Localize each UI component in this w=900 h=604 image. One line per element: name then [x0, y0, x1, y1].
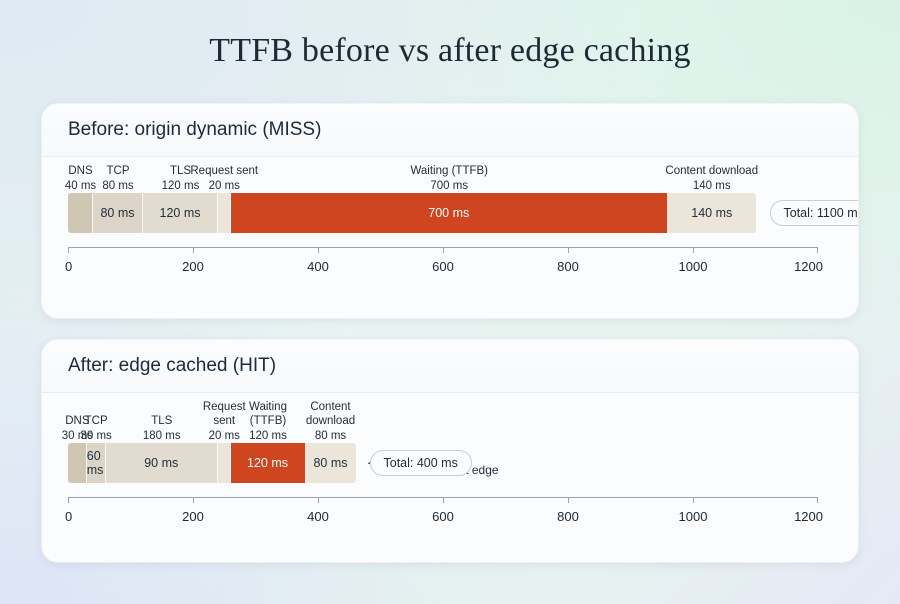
axis-tick [693, 247, 694, 253]
card-after-body: DNS30 msTCP30 msTLS180 msRequestsent20 m… [42, 393, 858, 539]
axis-tick-label: 600 [432, 509, 454, 524]
card-before-header: Before: origin dynamic (MISS) [42, 104, 858, 157]
axis-tick [817, 247, 818, 253]
page-title: TTFB before vs after edge caching [0, 0, 900, 70]
label-name: TCP [102, 164, 133, 179]
label-name: Waiting (TTFB) [410, 164, 488, 179]
axis-tick [693, 497, 694, 503]
axis-tick [568, 247, 569, 253]
chart-before-bar[interactable]: 80 ms120 ms700 ms140 ms [68, 193, 756, 233]
label-content-download: Content download140 ms [665, 164, 758, 193]
bar-segment-request-sent[interactable] [218, 443, 231, 483]
axis-tick-label: 800 [557, 259, 579, 274]
card-after-title: After: edge cached (HIT) [68, 355, 276, 377]
axis-tick [318, 247, 319, 253]
label-value: 120 ms [249, 429, 287, 444]
axis-tick-label: 200 [182, 509, 204, 524]
bar-segment-tcp[interactable]: 60 ms [87, 443, 106, 483]
label-name: TLS [143, 414, 181, 429]
axis-tick [318, 497, 319, 503]
axis-tick-label: 1000 [679, 259, 708, 274]
axis-tick-label: 1200 [794, 259, 823, 274]
chart-before-axis: 020040060080010001200 [68, 247, 818, 289]
label-value: 20 ms [203, 429, 246, 444]
label-content-download: Contentdownload80 ms [306, 400, 355, 444]
label-value: 140 ms [665, 179, 758, 194]
axis-tick-label: 0 [65, 259, 72, 274]
label-name: Request sent [190, 164, 258, 179]
chart-before-segment-labels: DNS40 msTCP80 msTLS120 msRequest sent20 … [68, 157, 818, 193]
chart-after-bar[interactable]: 60 ms90 ms120 ms80 ms [68, 443, 356, 483]
axis-tick-label: 400 [307, 509, 329, 524]
label-tls: TLS180 ms [143, 414, 181, 443]
chart-after-plot: DNS30 msTCP30 msTLS180 msRequestsent20 m… [68, 393, 818, 539]
label-name: Waiting [249, 400, 287, 415]
label-name: Request [203, 400, 246, 415]
label-name: download [306, 414, 355, 429]
axis-tick-label: 0 [65, 509, 72, 524]
label-value: 700 ms [410, 179, 488, 194]
chart-after-segment-labels: DNS30 msTCP30 msTLS180 msRequestsent20 m… [68, 393, 818, 443]
label-waiting-ttfb: Waiting (TTFB)700 ms [410, 164, 488, 193]
bar-segment-tls[interactable]: 90 ms [106, 443, 219, 483]
label-value: 20 ms [190, 179, 258, 194]
axis-tick-label: 400 [307, 259, 329, 274]
chart-before: DNS40 msTCP80 msTLS120 msRequest sent20 … [68, 157, 832, 289]
axis-tick [193, 247, 194, 253]
bar-segment-request-sent[interactable] [218, 193, 231, 233]
axis-tick [193, 497, 194, 503]
chart-before-bar-row: 80 ms120 ms700 ms140 ms Total: 1100 ms [68, 193, 818, 233]
chart-after-bar-row: 60 ms90 ms120 ms80 ms Server work elimin… [68, 443, 818, 483]
label-value: 180 ms [143, 429, 181, 444]
label-value: 30 ms [80, 429, 111, 444]
axis-tick-label: 800 [557, 509, 579, 524]
label-name: Content download [665, 164, 758, 179]
page-root: TTFB before vs after edge caching Before… [0, 0, 900, 604]
axis-tick [443, 247, 444, 253]
axis-tick-label: 1000 [679, 509, 708, 524]
axis-tick-label: 1200 [794, 509, 823, 524]
label-request-sent: Requestsent20 ms [203, 400, 246, 444]
card-after-header: After: edge cached (HIT) [42, 340, 858, 393]
bar-segment-tls[interactable]: 120 ms [143, 193, 218, 233]
bar-segment-content-download[interactable]: 80 ms [306, 443, 356, 483]
label-request-sent: Request sent20 ms [190, 164, 258, 193]
chart-after: DNS30 msTCP30 msTLS180 msRequestsent20 m… [68, 393, 832, 539]
bar-segment-tcp[interactable]: 80 ms [93, 193, 143, 233]
axis-tick [443, 497, 444, 503]
label-waiting-ttfb: Waiting(TTFB)120 ms [249, 400, 287, 444]
label-name: (TTFB) [249, 414, 287, 429]
bar-segment-waiting-ttfb[interactable]: 700 ms [231, 193, 669, 233]
bar-segment-waiting-ttfb[interactable]: 120 ms [231, 443, 306, 483]
label-tcp: TCP80 ms [102, 164, 133, 193]
card-before-body: DNS40 msTCP80 msTLS120 msRequest sent20 … [42, 157, 858, 289]
axis-tick [68, 497, 69, 503]
label-name: sent [203, 414, 246, 429]
bar-segment-content-download[interactable]: 140 ms [668, 193, 756, 233]
label-name: DNS [65, 164, 96, 179]
label-value: 80 ms [306, 429, 355, 444]
card-before-title: Before: origin dynamic (MISS) [68, 119, 321, 141]
card-before: Before: origin dynamic (MISS) DNS40 msTC… [42, 104, 858, 318]
axis-tick-label: 600 [432, 259, 454, 274]
axis-tick-label: 200 [182, 259, 204, 274]
card-after: After: edge cached (HIT) DNS30 msTCP30 m… [42, 340, 858, 562]
axis-tick [68, 247, 69, 253]
label-name: TCP [80, 414, 111, 429]
chart-after-axis: 020040060080010001200 [68, 497, 818, 539]
label-value: 40 ms [65, 179, 96, 194]
axis-tick [568, 497, 569, 503]
chart-before-total-badge: Total: 1100 ms [770, 200, 859, 226]
chart-after-total-badge: Total: 400 ms [370, 450, 472, 476]
axis-tick [817, 497, 818, 503]
bar-segment-dns[interactable] [68, 193, 93, 233]
chart-before-plot: DNS40 msTCP80 msTLS120 msRequest sent20 … [68, 157, 818, 289]
label-name: Content [306, 400, 355, 415]
label-dns: DNS40 ms [65, 164, 96, 193]
label-value: 80 ms [102, 179, 133, 194]
label-tcp: TCP30 ms [80, 414, 111, 443]
bar-segment-dns[interactable] [68, 443, 87, 483]
